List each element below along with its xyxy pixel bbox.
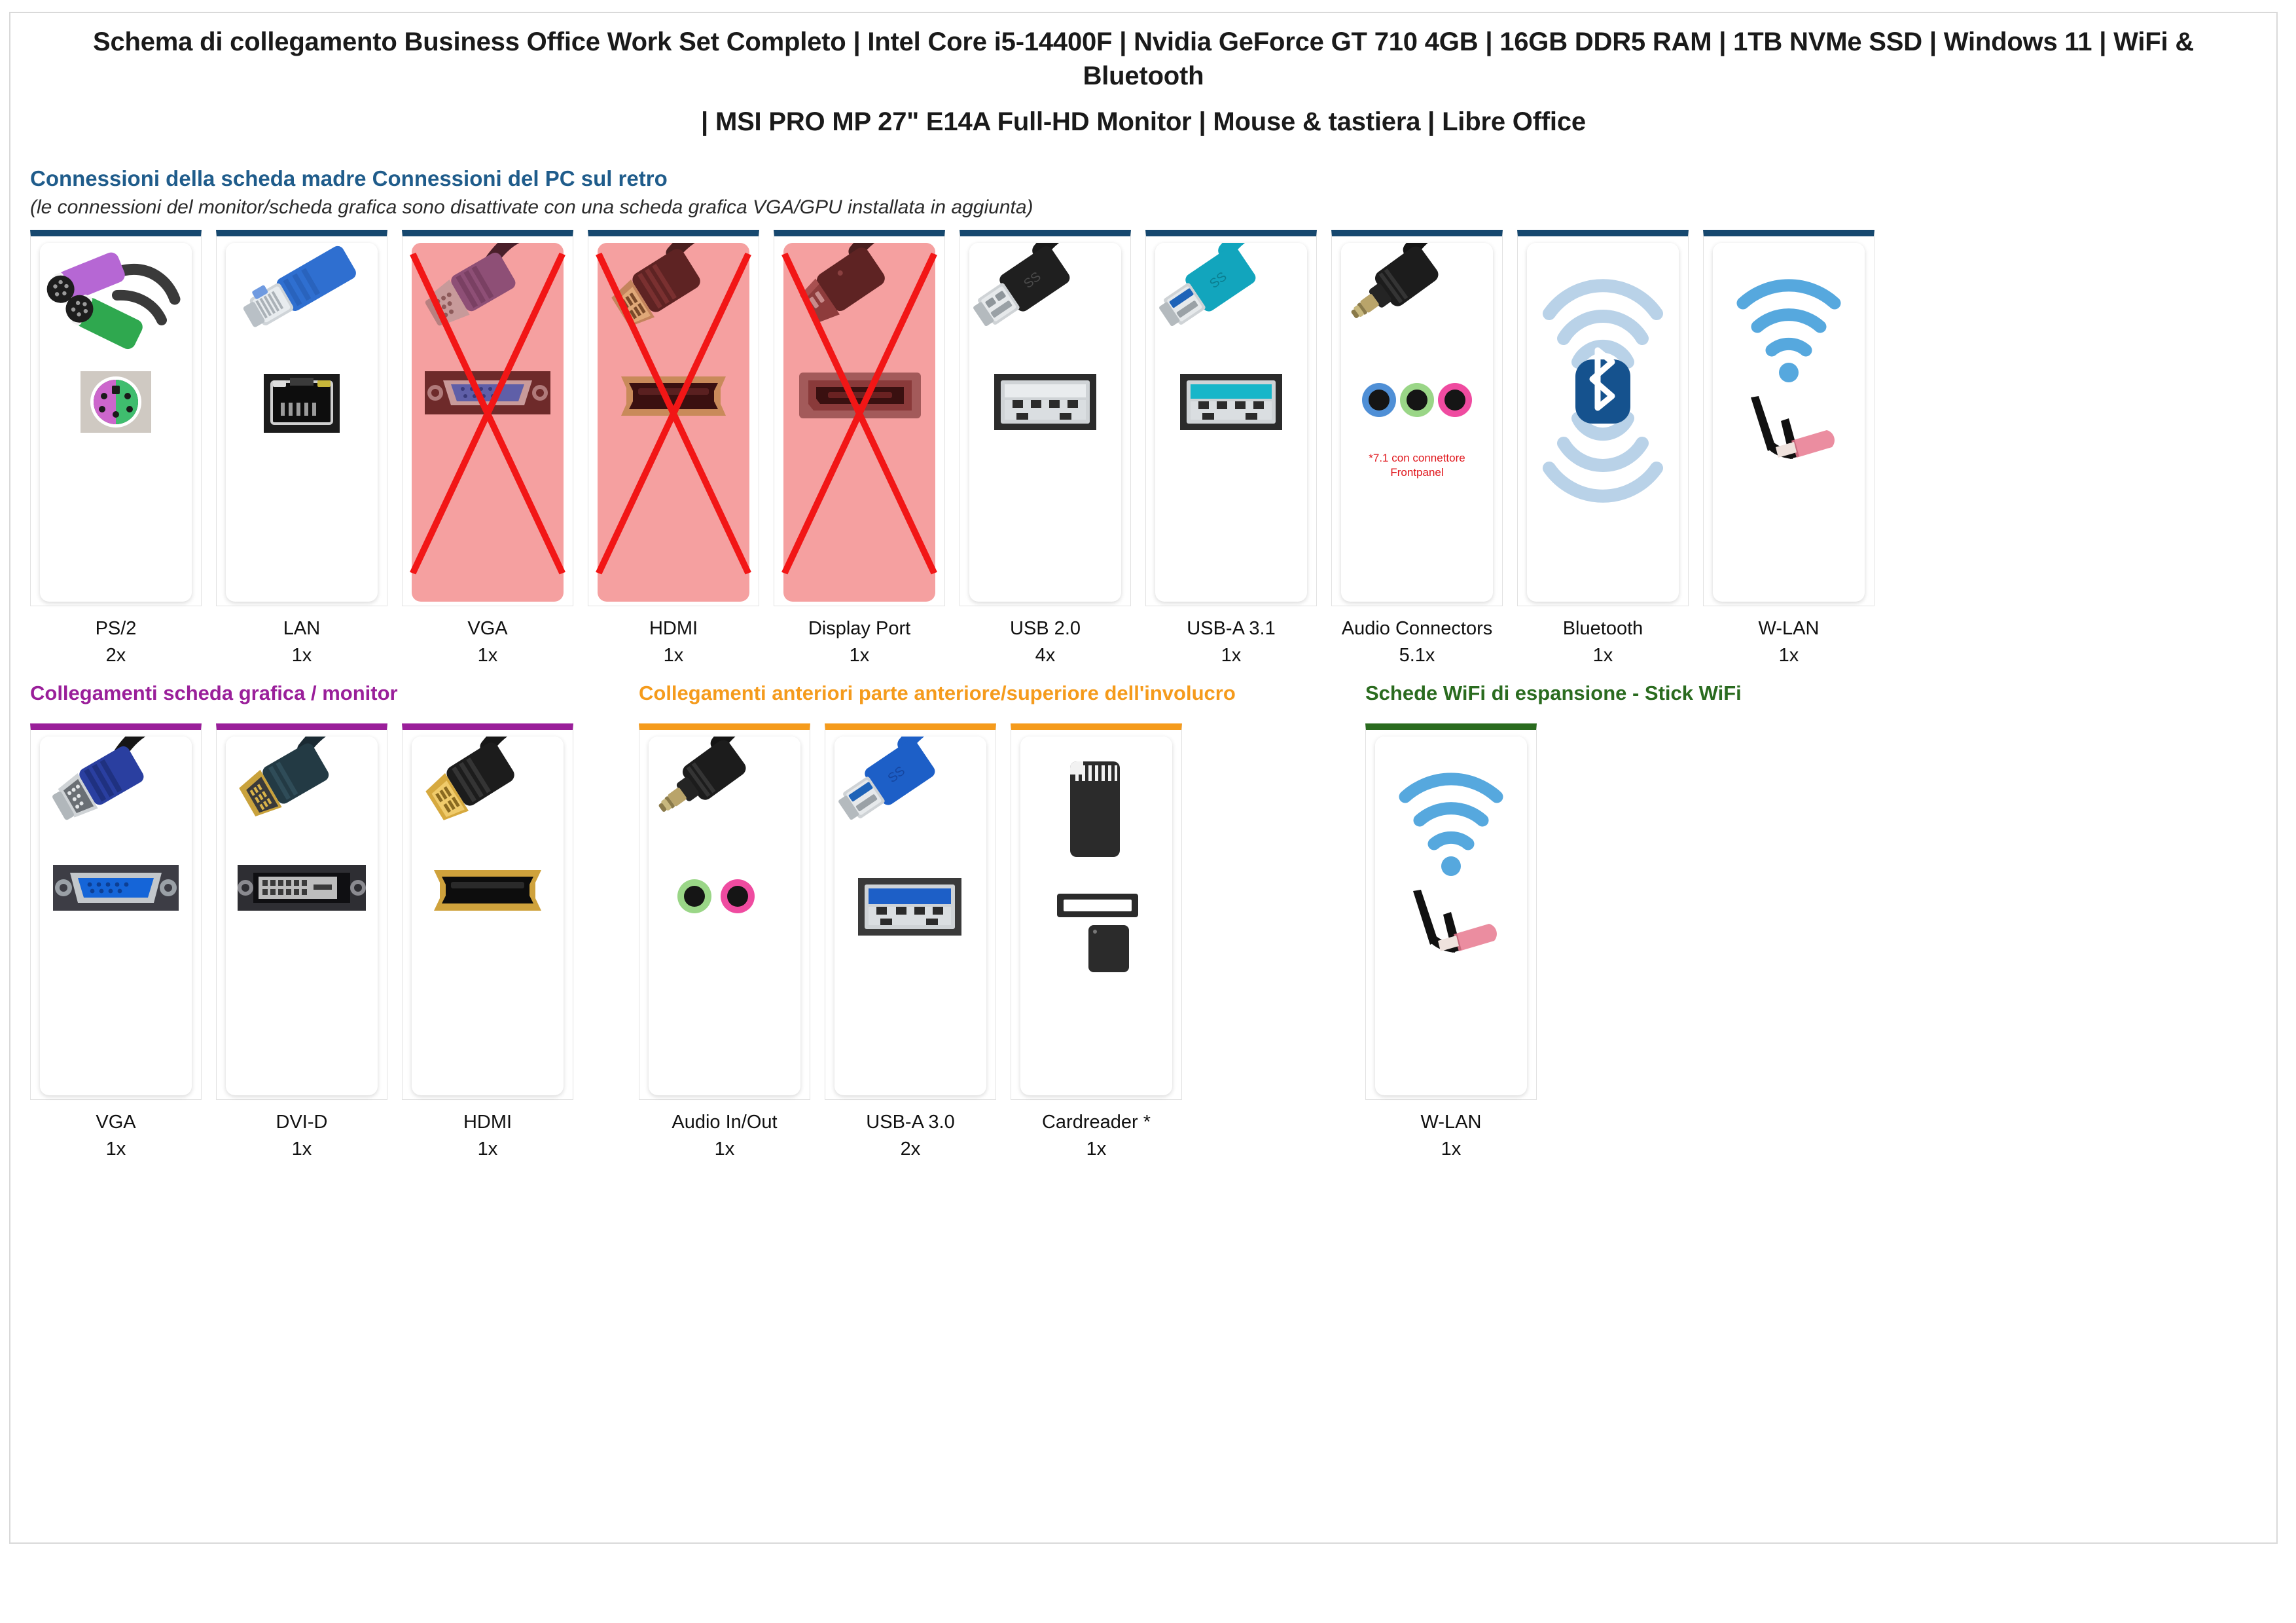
card-quantity: 2x	[96, 642, 137, 669]
card-quantity: 1x	[276, 1136, 328, 1163]
card-caption: W-LAN1x	[1759, 615, 1820, 669]
motherboard-section-subheading: (le connessioni del monitor/scheda grafi…	[30, 196, 2276, 219]
expansion-card-row: VGA1x	[30, 723, 2276, 1142]
card-caption: Bluetooth1x	[1563, 615, 1643, 669]
card-label: VGA	[467, 618, 507, 639]
wifi-stick-icon	[1713, 243, 1865, 602]
card-quantity: 5.1x	[1342, 642, 1493, 669]
card-label: USB 2.0	[1010, 618, 1081, 639]
card-caption: USB-A 3.11x	[1187, 615, 1275, 669]
card-body: *7.1 con connettore Frontpanel	[1331, 230, 1503, 606]
connector-card-vga[interactable]: VGA1x	[402, 230, 573, 669]
audio-jack-front-icon	[649, 737, 800, 1095]
card-caption: VGA1x	[96, 1109, 135, 1163]
card-quantity: 1x	[649, 642, 698, 669]
card-body	[216, 723, 387, 1100]
card-quantity: 2x	[866, 1136, 954, 1163]
cardreader-icon	[1020, 737, 1172, 1095]
card-art-area: *7.1 con connettore Frontpanel	[1341, 243, 1493, 602]
card-quantity: 1x	[463, 1136, 512, 1163]
card-art-area	[412, 243, 564, 602]
card-body: SS	[1145, 230, 1317, 606]
card-caption: W-LAN1x	[1421, 1109, 1482, 1163]
card-quantity: 1x	[283, 642, 320, 669]
card-body	[588, 230, 759, 606]
card-label: Display Port	[808, 618, 910, 639]
wifi-card-group: W-LAN1x	[1365, 723, 1537, 1163]
front-section-heading: Collegamenti anteriori parte anteriore/s…	[639, 683, 1236, 703]
card-art-area	[598, 243, 749, 602]
page-title: Schema di collegamento Business Office W…	[10, 25, 2276, 139]
card-label: USB-A 3.1	[1187, 618, 1275, 639]
card-body	[774, 230, 945, 606]
wifi-stick-icon	[1375, 737, 1527, 1095]
usb-a-black-icon: SS	[969, 243, 1121, 602]
card-label: W-LAN	[1421, 1112, 1482, 1133]
card-art-area	[226, 737, 378, 1095]
displayport-connector-icon	[783, 243, 935, 602]
card-label: Cardreader *	[1042, 1112, 1151, 1133]
card-quantity: 1x	[1563, 642, 1643, 669]
card-art-area	[226, 243, 378, 602]
group-headings-row: Collegamenti scheda grafica / monitor Co…	[10, 683, 2276, 713]
card-art-area	[40, 737, 192, 1095]
motherboard-section-heading: Connessioni della scheda madre Connessio…	[30, 165, 2276, 192]
card-label: HDMI	[649, 618, 698, 639]
card-quantity: 1x	[808, 642, 910, 669]
card-caption: Audio Connectors5.1x	[1342, 615, 1493, 669]
card-quantity: 1x	[672, 1136, 777, 1163]
audio-jack-icon	[1341, 243, 1493, 602]
card-body	[216, 230, 387, 606]
graphics-card-group: VGA1x	[30, 723, 573, 1163]
card-caption: HDMI1x	[463, 1109, 512, 1163]
card-label: LAN	[283, 618, 320, 639]
connector-card-hdmi[interactable]: HDMI1x	[588, 230, 759, 669]
card-caption: USB 2.04x	[1010, 615, 1081, 669]
connector-card-hdmi[interactable]: HDMI1x	[402, 723, 573, 1163]
card-art-area	[1020, 737, 1172, 1095]
card-body: SS	[960, 230, 1131, 606]
document-frame: Schema di collegamento Business Office W…	[9, 12, 2278, 1544]
card-quantity: 1x	[1042, 1136, 1151, 1163]
card-body	[1517, 230, 1689, 606]
card-label: VGA	[96, 1112, 135, 1133]
card-label: Audio In/Out	[672, 1112, 777, 1133]
card-body: SS	[825, 723, 996, 1100]
card-art-area	[412, 737, 564, 1095]
card-body	[30, 723, 202, 1100]
card-art-area	[1527, 243, 1679, 602]
graphics-section-heading: Collegamenti scheda grafica / monitor	[30, 683, 398, 703]
card-label: HDMI	[463, 1112, 512, 1133]
hdmi-connector-icon	[598, 243, 749, 602]
connector-card-audio-in-out[interactable]: Audio In/Out1x	[639, 723, 810, 1163]
card-quantity: 1x	[467, 642, 507, 669]
card-body	[1365, 723, 1537, 1100]
card-quantity: 1x	[1759, 642, 1820, 669]
card-quantity: 1x	[1421, 1136, 1482, 1163]
front-card-group: Audio In/Out1x SS	[639, 723, 1182, 1163]
connector-card-usb-a-3-0[interactable]: SS USB-A 3.02x	[825, 723, 996, 1163]
connector-card-usb-2-0[interactable]: SS USB 2.04x	[960, 230, 1131, 669]
connector-card-lan[interactable]: LAN1x	[216, 230, 387, 669]
card-art-area	[40, 243, 192, 602]
card-caption: VGA1x	[467, 615, 507, 669]
connector-card-cardreader[interactable]: Cardreader *1x	[1011, 723, 1182, 1163]
card-caption: LAN1x	[283, 615, 320, 669]
card-caption: DVI-D1x	[276, 1109, 328, 1163]
card-body	[30, 230, 202, 606]
connector-card-dvi-d[interactable]: DVI-D1x	[216, 723, 387, 1163]
bluetooth-icon	[1527, 243, 1679, 602]
connector-card-w-lan[interactable]: W-LAN1x	[1703, 230, 1874, 669]
wifi-section-heading: Schede WiFi di espansione - Stick WiFi	[1365, 683, 1742, 703]
audio-frontpanel-note: *7.1 con connettore Frontpanel	[1348, 451, 1486, 479]
card-quantity: 4x	[1010, 642, 1081, 669]
card-body	[402, 723, 573, 1100]
title-line-1: Schema di collegamento Business Office W…	[38, 25, 2249, 93]
connector-card-w-lan[interactable]: W-LAN1x	[1365, 723, 1537, 1163]
card-caption: USB-A 3.02x	[866, 1109, 954, 1163]
connector-card-display-port[interactable]: Display Port1x	[774, 230, 945, 669]
title-line-2: | MSI PRO MP 27" E14A Full-HD Monitor | …	[38, 105, 2249, 139]
card-art-area	[649, 737, 800, 1095]
card-body	[1011, 723, 1182, 1100]
vga-connector-icon	[412, 243, 564, 602]
hdmi-connector-black-icon	[412, 737, 564, 1095]
usb-a-blue-icon: SS	[834, 737, 986, 1095]
connector-card-bluetooth[interactable]: Bluetooth1x	[1517, 230, 1689, 669]
card-quantity: 1x	[1187, 642, 1275, 669]
connector-card-audio-connectors[interactable]: *7.1 con connettore FrontpanelAudio Conn…	[1331, 230, 1503, 669]
vga-connector-blue-icon	[40, 737, 192, 1095]
card-caption: Audio In/Out1x	[672, 1109, 777, 1163]
card-art-area: SS	[969, 243, 1121, 602]
card-body	[639, 723, 810, 1100]
card-label: Audio Connectors	[1342, 618, 1493, 639]
ps2-connector-icon	[40, 243, 192, 602]
rj45-lan-icon	[226, 243, 378, 602]
card-quantity: 1x	[96, 1136, 135, 1163]
connector-card-vga[interactable]: VGA1x	[30, 723, 202, 1163]
usb-a-teal-icon: SS	[1155, 243, 1307, 602]
card-art-area	[783, 243, 935, 602]
card-art-area	[1375, 737, 1527, 1095]
card-body	[1703, 230, 1874, 606]
card-body	[402, 230, 573, 606]
motherboard-card-row: PS/22x	[30, 230, 2276, 649]
card-label: DVI-D	[276, 1112, 328, 1133]
connector-card-ps-2[interactable]: PS/22x	[30, 230, 202, 669]
card-label: Bluetooth	[1563, 618, 1643, 639]
dvi-d-connector-icon	[226, 737, 378, 1095]
card-caption: Display Port1x	[808, 615, 910, 669]
card-caption: Cardreader *1x	[1042, 1109, 1151, 1163]
card-label: W-LAN	[1759, 618, 1820, 639]
card-label: USB-A 3.0	[866, 1112, 954, 1133]
card-art-area	[1713, 243, 1865, 602]
card-caption: PS/22x	[96, 615, 137, 669]
card-art-area: SS	[1155, 243, 1307, 602]
card-art-area: SS	[834, 737, 986, 1095]
motherboard-card-group: PS/22x	[30, 230, 1874, 669]
card-label: PS/2	[96, 618, 137, 639]
card-caption: HDMI1x	[649, 615, 698, 669]
connector-card-usb-a-3-1[interactable]: SS USB-A 3.11x	[1145, 230, 1317, 669]
